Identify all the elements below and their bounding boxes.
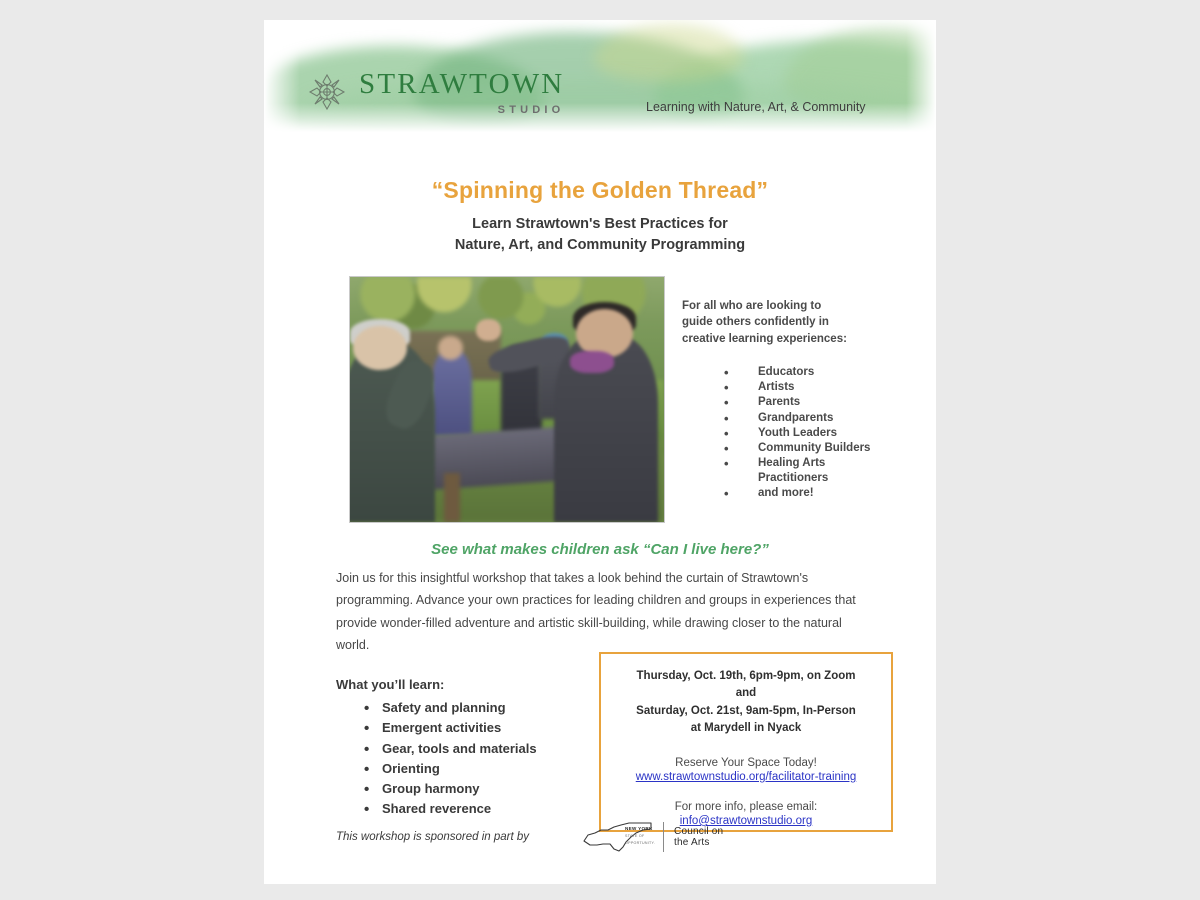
sponsor-text: This workshop is sponsored in part by	[336, 831, 529, 843]
audience-intro-line-2: guide others confidently in	[682, 314, 912, 330]
header-tagline: Learning with Nature, Art, & Community	[646, 100, 866, 114]
learn-heading: What you’ll learn:	[336, 677, 626, 692]
header-banner: STRAWTOWN STUDIO Learning with Nature, A…	[264, 20, 936, 137]
event-date-line-2: and	[611, 685, 881, 702]
audience-column: For all who are looking to guide others …	[682, 298, 912, 502]
list-item: Group harmony	[364, 779, 626, 799]
learn-list: Safety and planning Emergent activities …	[336, 698, 626, 820]
event-date-line-4: at Marydell in Nyack	[611, 720, 881, 737]
list-item: Safety and planning	[364, 698, 626, 718]
footer-row: This workshop is sponsored in part by NE…	[336, 820, 723, 854]
brand-subtitle: STUDIO	[359, 104, 564, 116]
nysca-logo: NEW YORK STATE OF OPPORTUNITY. Council o…	[581, 820, 723, 854]
learn-block: What you’ll learn: Safety and planning E…	[336, 677, 626, 820]
list-item: Parents	[724, 395, 912, 410]
email-label: For more info, please email:	[611, 801, 881, 813]
photo-and-audience-row: For all who are looking to guide others …	[264, 276, 936, 526]
list-item: Youth Leaders	[724, 426, 912, 441]
list-item: Shared reverence	[364, 799, 626, 819]
body-paragraph: Join us for this insightful workshop tha…	[336, 567, 866, 656]
compass-rose-icon	[309, 74, 345, 115]
list-item: Practitioners	[724, 471, 912, 486]
audience-intro-line-3: creative learning experiences:	[682, 331, 912, 347]
list-item: Grandparents	[724, 411, 912, 426]
green-tagline: See what makes children ask “Can I live …	[264, 541, 936, 558]
audience-intro: For all who are looking to guide others …	[682, 298, 912, 347]
page-subtitle: Learn Strawtown's Best Practices for Nat…	[264, 214, 936, 256]
brand-lockup: STRAWTOWN STUDIO	[309, 70, 564, 116]
page-title: “Spinning the Golden Thread”	[264, 177, 936, 204]
watercolor-wash	[594, 24, 744, 84]
new-york-state-outline-icon: NEW YORK STATE OF OPPORTUNITY.	[581, 820, 659, 854]
audience-intro-line-1: For all who are looking to	[682, 298, 912, 314]
lower-content-area: Join us for this insightful workshop tha…	[264, 567, 936, 832]
nysca-line-1: Council on	[674, 826, 723, 837]
list-item: Orienting	[364, 759, 626, 779]
registration-link[interactable]: www.strawtownstudio.org/facilitator-trai…	[611, 771, 881, 783]
logo-divider	[663, 822, 664, 852]
nysca-state-label: NEW YORK STATE OF OPPORTUNITY.	[625, 826, 655, 847]
nysca-line-2: the Arts	[674, 837, 723, 848]
list-item: Gear, tools and materials	[364, 739, 626, 759]
workshop-photo	[349, 276, 665, 523]
audience-list: Educators Artists Parents Grandparents Y…	[682, 365, 912, 502]
list-item: Healing Arts	[724, 456, 912, 471]
event-info-box: Thursday, Oct. 19th, 6pm-9pm, on Zoom an…	[599, 652, 893, 832]
flyer-page: STRAWTOWN STUDIO Learning with Nature, A…	[264, 20, 936, 884]
title-block: “Spinning the Golden Thread” Learn Straw…	[264, 177, 936, 256]
reserve-label: Reserve Your Space Today!	[611, 757, 881, 769]
list-item: Artists	[724, 380, 912, 395]
list-item: and more!	[724, 486, 912, 501]
list-item: Educators	[724, 365, 912, 380]
list-item: Community Builders	[724, 441, 912, 456]
brand-name: STRAWTOWN	[359, 70, 564, 99]
nysca-state-name: NEW YORK	[625, 826, 653, 831]
event-date-line-1: Thursday, Oct. 19th, 6pm-9pm, on Zoom	[611, 668, 881, 685]
list-item: Emergent activities	[364, 718, 626, 738]
subtitle-line-2: Nature, Art, and Community Programming	[264, 235, 936, 256]
nysca-wordmark: Council on the Arts	[674, 826, 723, 848]
event-date-line-3: Saturday, Oct. 21st, 9am-5pm, In-Person	[611, 703, 881, 720]
nysca-state-sub-1: STATE OF	[625, 834, 644, 838]
nysca-state-sub-2: OPPORTUNITY.	[625, 841, 655, 845]
subtitle-line-1: Learn Strawtown's Best Practices for	[264, 214, 936, 235]
